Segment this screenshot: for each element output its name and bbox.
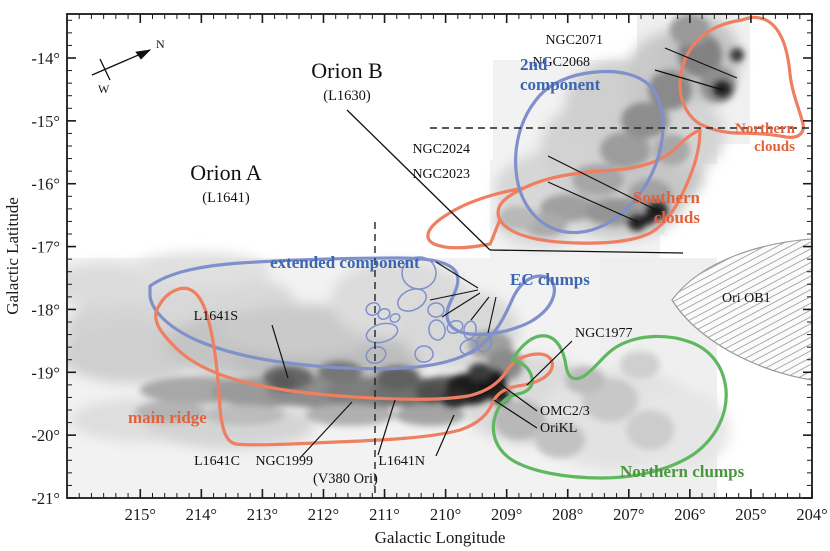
y-tick-label: -18° xyxy=(31,300,60,319)
y-tick-labels: -14°-15°-16°-17°-18°-19°-20°-21° xyxy=(31,49,60,508)
orion-a-alt-name: (L1641) xyxy=(202,190,250,206)
object-label: OriKL xyxy=(540,421,577,436)
region-name-label: Ori OB1 xyxy=(722,291,771,306)
object-label: OMC2/3 xyxy=(540,404,590,419)
x-tick-label: 211° xyxy=(369,505,400,524)
y-tick-label: -16° xyxy=(31,175,60,194)
x-tick-label: 212° xyxy=(308,505,339,524)
orion-a-name: Orion A xyxy=(190,160,262,185)
x-tick-label: 208° xyxy=(552,505,583,524)
x-tick-label: 215° xyxy=(125,505,156,524)
object-label: NGC2024 xyxy=(412,142,470,157)
compass-north-label: N xyxy=(156,37,165,51)
y-tick-label: -20° xyxy=(31,426,60,445)
contour-label: Northern clumps xyxy=(620,462,745,481)
object-label: NGC2023 xyxy=(412,167,470,182)
x-tick-label: 209° xyxy=(491,505,522,524)
object-label: L1641N xyxy=(378,454,425,469)
contour-label: component xyxy=(520,75,601,94)
y-axis-title: Galactic Latitude xyxy=(3,197,22,315)
object-sublabel-group: (V380 Ori) xyxy=(313,471,378,487)
contour-label: EC clumps xyxy=(510,270,590,289)
object-label: L1641S xyxy=(194,309,238,324)
x-tick-label: 213° xyxy=(247,505,278,524)
y-tick-label: -14° xyxy=(31,49,60,68)
compass-west-label: W xyxy=(98,82,110,96)
y-tick-label: -21° xyxy=(31,489,60,508)
x-tick-label: 210° xyxy=(430,505,461,524)
object-sublabel: (V380 Ori) xyxy=(313,471,378,487)
object-label: NGC1999 xyxy=(255,454,313,469)
y-tick-label: -19° xyxy=(31,363,60,382)
contour-label: clouds xyxy=(654,208,701,227)
contour-label: 2nd xyxy=(520,55,548,74)
object-label: NGC2071 xyxy=(545,33,603,48)
x-axis-title: Galactic Longitude xyxy=(375,528,506,547)
orion-map-svg: NGC2071NGC2068NGC2024NGC2023L1641SNGC197… xyxy=(0,0,830,551)
y-tick-label: -17° xyxy=(31,238,60,257)
x-tick-label: 205° xyxy=(735,505,766,524)
contour-label: Southern xyxy=(633,188,701,207)
y-tick-label: -15° xyxy=(31,112,60,131)
contour-label: clouds xyxy=(754,139,795,155)
contour-label: Northern xyxy=(735,121,796,137)
orion-b-name: Orion B xyxy=(311,58,383,83)
x-tick-label: 214° xyxy=(186,505,217,524)
static-label-group: Ori OB1 xyxy=(722,291,771,306)
x-tick-label: 206° xyxy=(674,505,705,524)
object-label: L1641C xyxy=(194,454,240,469)
object-label: NGC1977 xyxy=(575,326,633,341)
x-tick-label: 207° xyxy=(613,505,644,524)
figure-panel: NGC2071NGC2068NGC2024NGC2023L1641SNGC197… xyxy=(0,0,830,551)
contour-label: main ridge xyxy=(128,408,207,427)
contour-label: extended component xyxy=(270,253,420,272)
x-tick-label: 204° xyxy=(796,505,827,524)
orion-b-alt-name: (L1630) xyxy=(323,88,371,104)
x-tick-labels: 215°214°213°212°211°210°209°208°207°206°… xyxy=(125,505,828,524)
